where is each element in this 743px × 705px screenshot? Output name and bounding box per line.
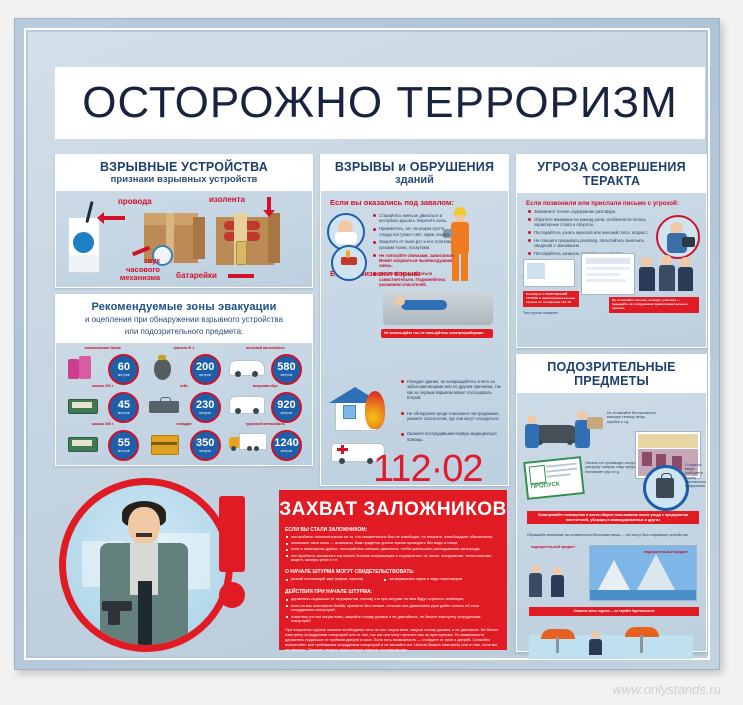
wires-arrow-head-icon [97,212,104,224]
page-title: ОСТОРОЖНО ТЕРРОРИЗМ [55,67,705,139]
gunman-circle [59,478,233,652]
evacuation-item-label: микроавтобус [225,384,306,388]
label-wires: провода [118,197,152,206]
hostage-bullet: постарайтесь запомнить как можно больше … [291,554,499,564]
no-flame-icon [331,245,367,281]
label-batteries: батарейки [176,271,217,280]
panel-threat-title-2: ТЕРАКТА [521,174,702,188]
hostage-bullet-list: резкий хлопающий звук (взрыв, сирена) за… [279,577,507,583]
stand-field: ОСТОРОЖНО ТЕРРОРИЗМ ВЗРЫВНЫЕ УСТРОЙСТВА … [28,32,706,656]
explosive-box-side [268,213,280,263]
legend-suspicious-object: подозрительный предмет [531,545,575,549]
evacuation-row: алюминиевая банка 60 метров гранат [62,345,306,383]
loading-cargo-illustration [525,405,605,455]
rubble-bullet-warning: Не голосуйте спичками, зажигалкой. Может… [379,253,457,269]
truck-icon [229,431,263,455]
evacuation-item-label: чемодан [143,422,224,426]
evacuation-distance-unit: метров [118,411,130,415]
evacuation-distance-badge: 1240 метров [271,430,302,461]
wires-arrow-icon [101,216,125,220]
evacuation-distance-unit: метров [118,373,130,377]
milk-carton-icon [68,217,100,273]
pedestrian-figures [527,563,583,599]
evacuation-distance-unit: метров [199,373,211,377]
panel-suspicious-objects: ПОДОЗРИТЕЛЬНЫЕ ПРЕДМЕТЫ Не оставляйте бе… [516,354,707,652]
burning-house-icon [329,381,391,437]
evacuation-distance-badge: 920 метров [271,392,302,423]
hostage-bullet: держитесь подальше от террористов, потом… [291,597,499,602]
blast-bullet-list: Покидая здание, не возвращайтесь в него … [395,379,507,445]
electric-warning-banner: Не используйте газ, не пользуйтесь элект… [381,329,493,338]
panel-threat-header: УГРОЗА СОВЕРШЕНИЯ ТЕРАКТА [517,155,706,193]
panel-explosions-collapses: ВЗРЫВЫ и ОБРУШЕНИЯ зданий Если вы оказал… [320,154,509,486]
panel-explosive-devices-title: ВЗРЫВНЫЕ УСТРОЙСТВА [60,160,308,174]
evacuation-distance-badge: 580 метров [271,354,302,385]
panel-suspicious-objects-body: Не оставляйте без присмотра высокую техн… [517,393,706,663]
pass-document-icon: ПРОПУСК [523,456,585,500]
evacuation-item-label: шашка 400 г [62,422,143,426]
officers-illustration [639,251,693,293]
scene-label: подозрительный предмет [644,550,688,554]
evacuation-item-minibus: микроавтобус 920 метров [225,383,306,421]
evacuation-item-aluminium-can: алюминиевая банка 60 метров [62,345,143,383]
evacuation-distance-badge: 200 метров [190,354,221,385]
hostage-section-title: О НАЧАЛЕ ШТУРМА МОГУТ СВИДЕТЕЛЬСТВОВАТЬ: [285,569,507,575]
callout-report: О забытых вещах сообщите в службу безопа… [685,463,703,488]
evacuation-distance-badge: 45 метров [108,392,139,423]
evacuation-distance-unit: метров [281,411,293,415]
evacuation-distance-value: 580 [277,362,295,373]
threat-bullet: Не спешите прерывать разговор, попытайте… [534,238,652,249]
blast-bullet: Не обнаружив среди спасшихся пострадавши… [407,411,503,422]
information-stand: ОСТОРОЖНО ТЕРРОРИЗМ ВЗРЫВНЫЕ УСТРОЙСТВА … [14,18,720,670]
section-title-rubble: Если вы оказались под завалом: [330,198,503,207]
beach-caption-banner: Опасные зоны отдыха — не теряйте бдитель… [529,607,699,616]
threat-bullet-list: Запомните точное содержание разговора. О… [522,209,656,256]
evacuation-distance-value: 350 [196,438,214,449]
panel-explosive-devices-header: ВЗРЫВНЫЕ УСТРОЙСТВА признаки взрывных ус… [56,155,312,191]
exclamation-bar [219,496,245,572]
evacuation-distance-badge: 60 метров [108,354,139,385]
panel-evacuation-header: Рекомендуемые зоны эвакуации и оцепления… [56,295,312,343]
threat-bullet: Обратите внимание на манеру речи, особен… [534,217,652,228]
tnt-block-icon [66,431,100,455]
letter-evidence-icon [581,253,635,295]
page-title-text: ОСТОРОЖНО ТЕРРОРИЗМ [82,78,678,128]
hostage-bullet: если в помещении душно, постарайтесь мен… [291,547,499,552]
threat-bullet: Запомните точное содержание разговора. [534,209,652,214]
evacuation-distance-value: 920 [277,400,295,411]
panel-threat-body: Если позвонили или прислали письмо с угр… [517,193,706,350]
evacuation-distance-badge: 55 метров [108,430,139,461]
evacuation-item-briefcase: кейс 230 метров [143,383,224,421]
panel-evacuation-title: Рекомендуемые зоны эвакуации [60,300,308,314]
red-notice-inspect: Осматривайте помещения и места общего по… [527,511,699,524]
panel-explosive-devices-subtitle: признаки взрывных устройств [60,174,308,186]
hostage-bullet: ложитесь на пол лицом вниз, закройте гол… [291,615,499,625]
gunman-warning-badge [59,478,269,658]
blast-bullet: Окажите пострадавшим первую медицинскую … [407,431,503,442]
grenade-icon [147,355,181,379]
section-title-threat-call: Если позвонили или прислали письмо с угр… [526,200,701,207]
car-icon [229,355,263,379]
evacuation-distance-value: 200 [196,362,214,373]
evacuation-distance-unit: метров [281,373,293,377]
hostage-section-title: ЕСЛИ ВЫ СТАЛИ ЗАЛОЖНИКОМ: [285,527,507,533]
hostage-bullet-list: настройтесь психологически на то, что мо… [279,535,507,563]
battery-pack-icon [236,241,247,265]
watermark: www.onlystands.ru [613,682,721,697]
evacuation-row: шашка 400 г 55 метров чемодан [62,421,306,459]
panel-explosions-title-2: зданий [325,174,504,186]
label-tape: изолента [209,195,245,204]
panel-explosions-header: ВЗРЫВЫ и ОБРУШЕНИЯ зданий [321,155,508,191]
panel-suspicious-objects-title: ПОДОЗРИТЕЛЬНЫЕ ПРЕДМЕТЫ [521,360,702,388]
label-clock-sound: звук часового механизма [114,257,160,283]
abandoned-bag-zoom-icon [643,465,689,511]
panel-explosive-devices-body: провода звук часового механизма изолен [56,191,312,283]
batteries-arrow-icon [228,274,254,278]
suitcase-icon [147,431,181,455]
panel-evacuation-zones: Рекомендуемые зоны эвакуации и оцепления… [55,294,313,466]
evacuation-item-label: грузовой автомобиль [225,422,306,426]
panel-hostages-title: ЗАХВАТ ЗАЛОЖНИКОВ [279,490,507,521]
hostage-bullet-list: держитесь подальше от террористов, потом… [279,597,507,624]
rubble-bullet-warning: Не пытайтесь выбраться самостоятельно. П… [379,271,457,287]
hostage-bullet: если на вас возложена бомба, крикните бе… [291,604,499,614]
evacuation-item-car: легковой автомобиль 580 метров [225,345,306,383]
evacuation-item-label: шашка 200 г [62,384,143,388]
gunman-head [128,507,160,545]
handgun-grip [108,609,120,625]
rubble-bullet: Старайтесь меньше двигаться и неглубоко … [379,213,457,224]
evacuation-distance-value: 55 [118,438,130,449]
evacuation-item-truck: грузовой автомобиль 1240 метров [225,421,306,459]
evacuation-item-grenade: граната Ф-1 200 метров [143,345,224,383]
panel-threat: УГРОЗА СОВЕРШЕНИЯ ТЕРАКТА Если позвонили… [516,154,707,348]
gunman-moustache [136,533,152,537]
milk-carton-label-disc [73,232,94,253]
hostage-section-title: ДЕЙСТВИЯ ПРИ НАЧАЛЕ ШТУРМА: [285,589,507,595]
evacuation-distance-value: 45 [118,400,130,411]
megaphone-note-icon [523,255,575,289]
exclamation-dot [219,582,245,608]
briefcase-icon [147,393,181,417]
evacuation-distance-unit: метров [118,449,130,453]
blast-bullet: Покидая здание, не возвращайтесь в него … [407,379,503,401]
threat-bullet: Постарайтесь узнать мужской или женский … [534,230,652,235]
evacuation-item-label: кейс [143,384,224,388]
cardboard-box-side [193,217,205,259]
aluminium-can-icon [66,355,100,379]
letter-keep-note: Текст угрозы сохраните [523,311,583,315]
minibus-icon [229,393,263,417]
callout-unattended: Не оставляйте без присмотра высокую техн… [607,411,657,424]
panel-explosive-devices: ВЗРЫВНЫЕ УСТРОЙСТВА признаки взрывных ус… [55,154,313,288]
rubble-bullet: Прижмитесь, нет ли рядом пустот, откуда … [379,226,457,237]
panel-explosions-body: Если вы оказались под завалом: [321,191,508,484]
panel-threat-title-1: УГРОЗА СОВЕРШЕНИЯ [521,160,702,174]
emergency-number: 112·02 [373,448,483,491]
beach-illustration [529,625,693,659]
hostage-footer-text: При вторжении группы захвата необходимо … [285,628,499,653]
tape-arrow-head-icon [263,210,275,217]
threat-evidence-note: Не оставляйте письмо, конверт, упаковку … [609,297,699,313]
city-scene-photo: подозрительный предмет [589,545,697,601]
tnt-block-icon [66,393,100,417]
panel-suspicious-objects-header: ПОДОЗРИТЕЛЬНЫЕ ПРЕДМЕТЫ [517,355,706,393]
evacuation-item-tnt-400: шашка 400 г 55 метров [62,421,143,459]
panel-hostages: ЗАХВАТ ЗАЛОЖНИКОВ ЕСЛИ ВЫ СТАЛИ ЗАЛОЖНИК… [279,490,507,650]
hostage-bullet: настройтесь психологически на то, что мо… [291,535,499,540]
evacuation-distance-value: 60 [118,362,130,373]
evacuation-distance-unit: метров [199,449,211,453]
rubble-bullet: Защитите от пыли рот и нос платком, куск… [379,239,457,250]
hostage-bullet: резкий хлопающий звук (взрыв, сирена) [291,577,363,582]
panel-explosions-title-1: ВЗРЫВЫ и ОБРУШЕНИЯ [325,160,504,174]
evacuation-distance-badge: 350 метров [190,430,221,461]
evacuation-distance-value: 230 [196,400,214,411]
evacuation-distance-unit: метров [281,449,293,453]
evacuation-distance-value: 1240 [274,438,298,449]
evacuation-item-label: граната Ф-1 [143,346,224,350]
tape-arrow-icon [267,197,271,211]
rubble-bullet-list: Старайтесь меньше двигаться и неглубоко … [367,213,461,290]
threat-report-note: Сообщите о ПОЛУЧЕННОЙ УГРОЗЕ в правоохра… [523,291,579,307]
evacuation-distance-unit: метров [199,411,211,415]
evacuation-row: шашка 200 г 45 метров кейс [62,383,306,421]
evacuation-item-label: легковой автомобиль [225,346,306,350]
evacuation-grid: алюминиевая банка 60 метров гранат [62,345,306,459]
hostage-bullet: экономьте свои силы — возможно, Вам прид… [291,541,499,546]
panel-evacuation-sub1: и оцепления при обнаружении взрывного ус… [60,314,308,326]
red-notice-attention: Обращайте внимание на оставленные бесхоз… [527,533,693,537]
evacuation-item-tnt-200: шашка 200 г 45 метров [62,383,143,421]
rubble-debris-illustration [383,291,493,325]
hostage-bullet: затянувшаяся пауза в ходе переговоров [389,577,462,582]
evacuation-item-label: алюминиевая банка [62,346,143,350]
panel-evacuation-sub2: или подозрительного предмета: [60,326,308,338]
evacuation-item-suitcase: чемодан 350 метров [143,421,224,459]
panel-evacuation-body: алюминиевая банка 60 метров гранат [56,343,312,461]
gunman-tie [138,581,152,645]
evacuation-distance-badge: 230 метров [190,392,221,423]
